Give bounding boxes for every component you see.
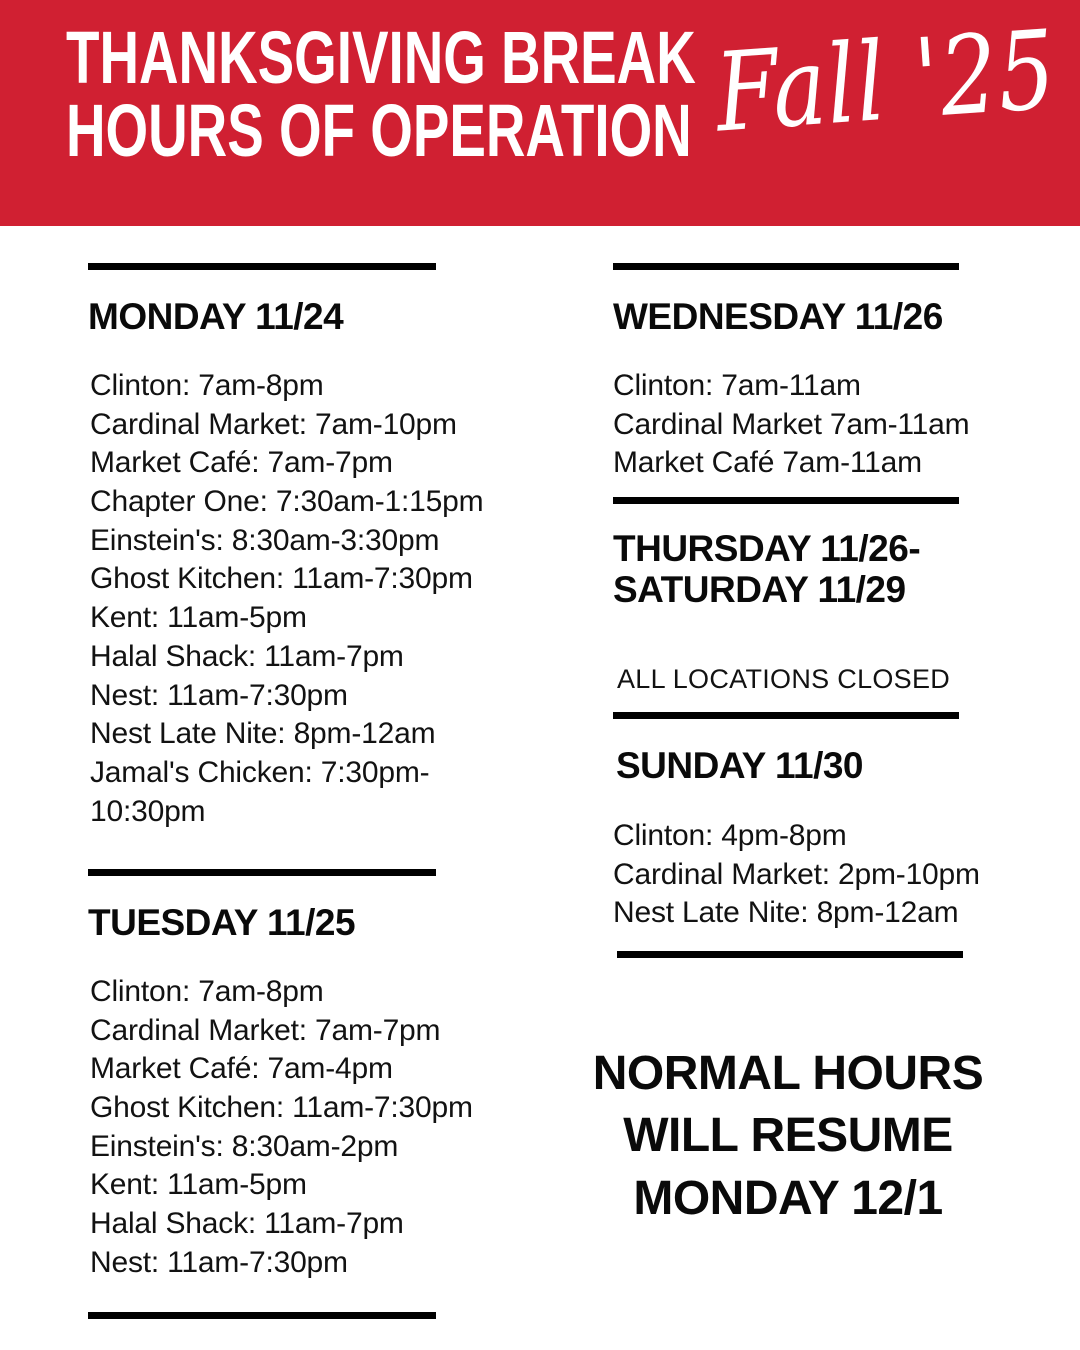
hours-list-tuesday: Clinton: 7am-8pm Cardinal Market: 7am-7p… — [90, 973, 530, 1283]
hours-item: Clinton: 4pm-8pm — [613, 817, 1033, 856]
hours-item: Einstein's: 8:30am-2pm — [90, 1128, 530, 1167]
hours-list-sunday: Clinton: 4pm-8pm Cardinal Market: 2pm-10… — [613, 817, 1033, 933]
hours-item: Kent: 11am-5pm — [90, 599, 530, 638]
day-heading-wednesday: WEDNESDAY 11/26 — [613, 296, 943, 337]
hours-item: Halal Shack: 11am-7pm — [90, 1205, 530, 1244]
page-title: THANKSGIVING BREAK HOURS OF OPERATION — [66, 22, 532, 167]
divider-rule-right-third — [613, 712, 959, 719]
season-label: Fall '25 — [712, 7, 1060, 157]
page-title-line-2: HOURS OF OPERATION — [66, 95, 532, 168]
day-heading-monday: MONDAY 11/24 — [88, 296, 343, 337]
divider-rule-left-top — [88, 263, 436, 270]
hours-item: Cardinal Market: 7am-7pm — [90, 1012, 530, 1051]
hours-item: Clinton: 7am-11am — [613, 367, 1033, 406]
divider-rule-right-second — [613, 497, 959, 504]
hours-list-monday: Clinton: 7am-8pm Cardinal Market: 7am-10… — [90, 367, 530, 831]
resume-notice: NORMAL HOURS WILL RESUME MONDAY 12/1 — [563, 1043, 1013, 1230]
hours-item: Ghost Kitchen: 11am-7:30pm — [90, 1089, 530, 1128]
hours-item: Clinton: 7am-8pm — [90, 973, 530, 1012]
hours-item: Kent: 11am-5pm — [90, 1166, 530, 1205]
divider-rule-left-bottom — [88, 1312, 436, 1319]
header-banner: THANKSGIVING BREAK HOURS OF OPERATION Fa… — [0, 0, 1080, 226]
hours-item: Chapter One: 7:30am-1:15pm — [90, 483, 530, 522]
day-heading-thursday-saturday: THURSDAY 11/26- SATURDAY 11/29 — [613, 528, 920, 611]
hours-item: Market Café: 7am-7pm — [90, 444, 530, 483]
hours-item: Nest Late Nite: 8pm-12am — [613, 894, 1033, 933]
all-locations-closed-note: ALL LOCATIONS CLOSED — [617, 664, 950, 695]
hours-list-wednesday: Clinton: 7am-11am Cardinal Market 7am-11… — [613, 367, 1033, 483]
divider-rule-left-middle — [88, 869, 436, 876]
page-title-line-1: THANKSGIVING BREAK — [66, 22, 532, 95]
hours-item: Nest: 11am-7:30pm — [90, 1244, 530, 1283]
hours-item: Nest: 11am-7:30pm — [90, 677, 530, 716]
divider-rule-right-top — [613, 263, 959, 270]
hours-item: Clinton: 7am-8pm — [90, 367, 530, 406]
hours-item: Halal Shack: 11am-7pm — [90, 638, 530, 677]
hours-item: Cardinal Market: 2pm-10pm — [613, 856, 1033, 895]
hours-item: Cardinal Market: 7am-10pm — [90, 406, 530, 445]
divider-rule-right-bottom — [617, 951, 963, 958]
day-heading-sunday: SUNDAY 11/30 — [616, 745, 863, 786]
hours-item: Nest Late Nite: 8pm-12am — [90, 715, 530, 754]
hours-item: Cardinal Market 7am-11am — [613, 406, 1033, 445]
hours-item: Jamal's Chicken: 7:30pm-10:30pm — [90, 754, 530, 831]
day-heading-tuesday: TUESDAY 11/25 — [88, 902, 355, 943]
hours-item: Ghost Kitchen: 11am-7:30pm — [90, 560, 530, 599]
hours-item: Market Café: 7am-4pm — [90, 1050, 530, 1089]
hours-item: Market Café 7am-11am — [613, 444, 1033, 483]
hours-item: Einstein's: 8:30am-3:30pm — [90, 522, 530, 561]
